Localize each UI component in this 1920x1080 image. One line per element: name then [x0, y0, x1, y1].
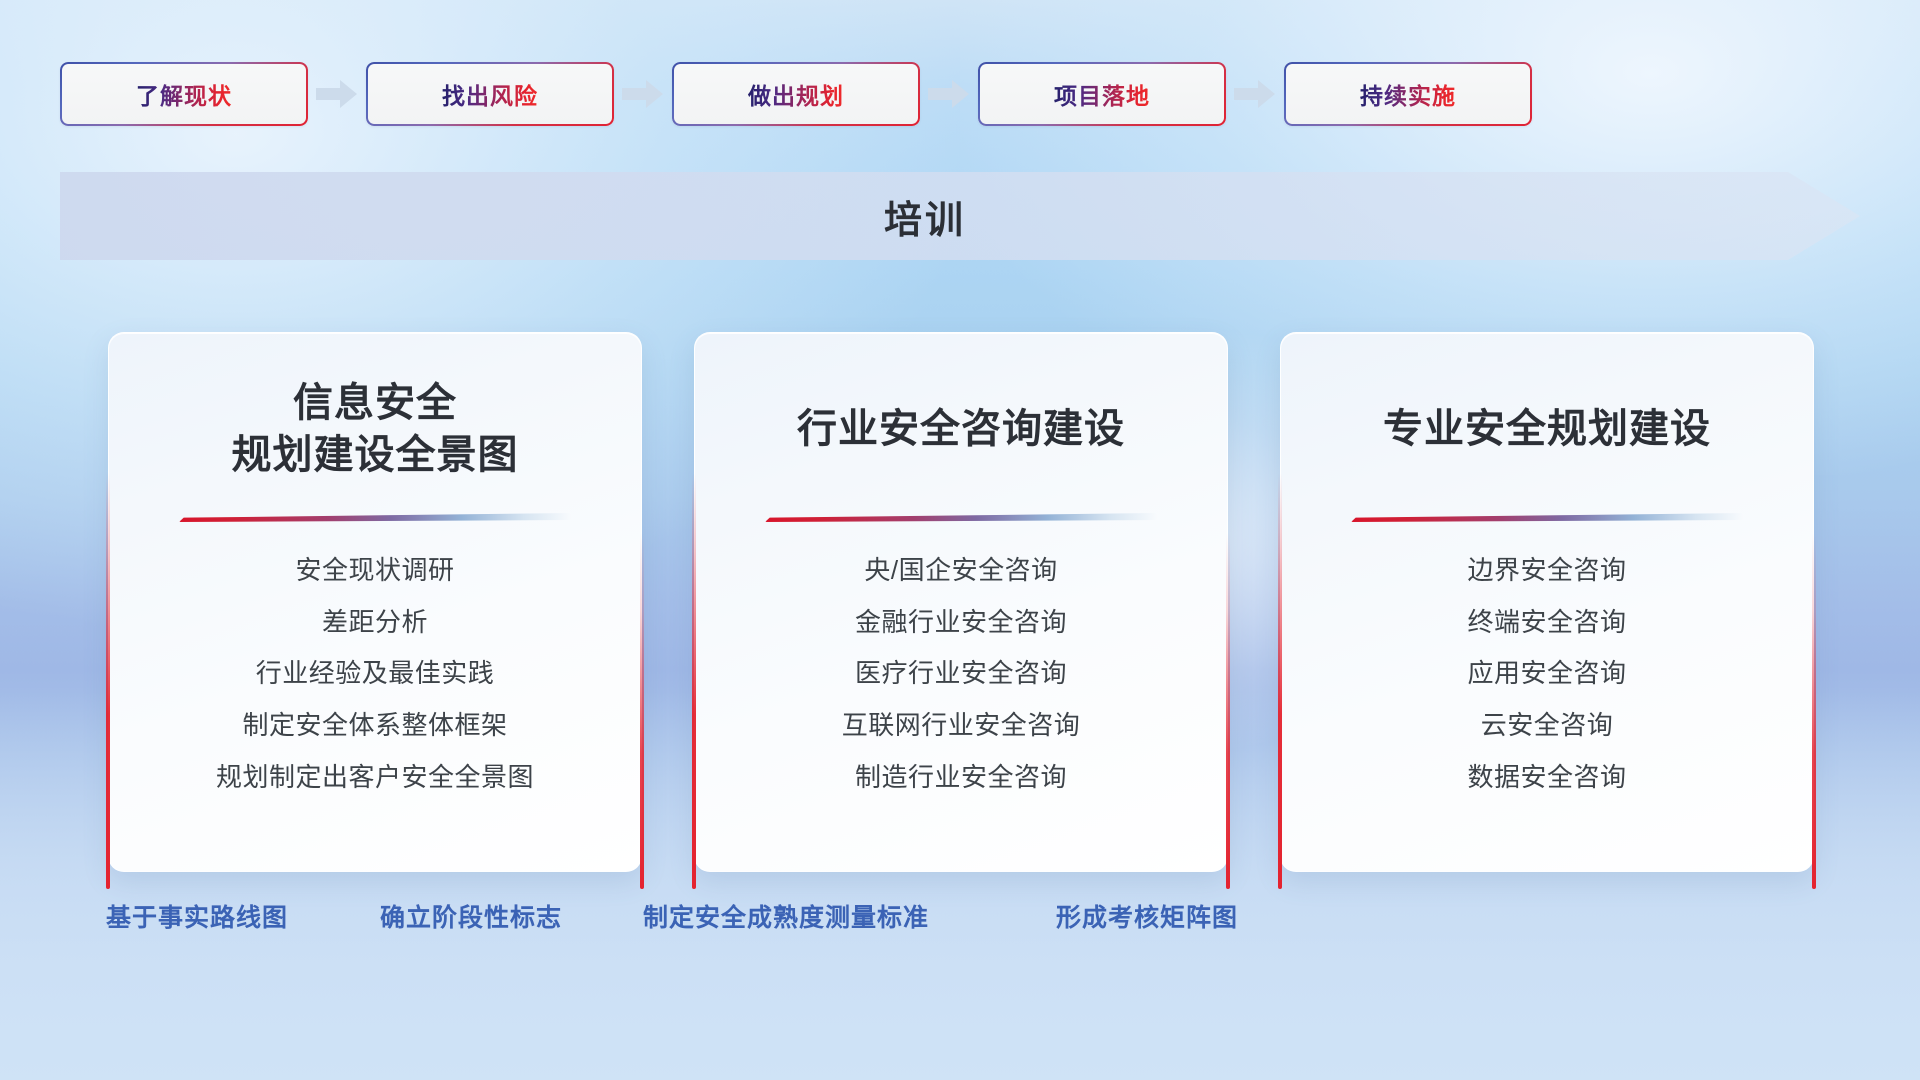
process-step-2[interactable]: 做出规划 — [672, 62, 920, 126]
list-item: 金融行业安全咨询 — [855, 604, 1067, 642]
process-step-label: 做出规划 — [748, 77, 844, 111]
list-item: 数据安全咨询 — [1467, 759, 1626, 797]
footnote-label: 确立阶段性标志 — [380, 898, 562, 934]
footnote-label: 制定安全成熟度测量标准 — [643, 898, 929, 934]
service-card-group: 信息安全 规划建设全景图 安全现状调研 差距分析 行业经验及最佳实践 制定安全体… — [108, 332, 1814, 872]
process-step-label: 项目落地 — [1054, 77, 1150, 111]
list-item: 安全现状调研 — [295, 552, 454, 590]
card-title: 信息安全 规划建设全景图 — [232, 371, 519, 487]
arrow-right-icon — [1226, 62, 1284, 126]
footnote-label: 形成考核矩阵图 — [1056, 898, 1238, 934]
arrow-right-icon — [614, 62, 672, 126]
training-band: 培训 — [60, 172, 1860, 260]
card-item-list: 安全现状调研 差距分析 行业经验及最佳实践 制定安全体系整体框架 规划制定出客户… — [216, 552, 534, 796]
list-item: 央/国企安全咨询 — [864, 552, 1057, 590]
card-item-list: 央/国企安全咨询 金融行业安全咨询 医疗行业安全咨询 互联网行业安全咨询 制造行… — [842, 552, 1081, 796]
process-step-0[interactable]: 了解现状 — [60, 62, 308, 126]
arrow-right-icon — [920, 62, 978, 126]
list-item: 应用安全咨询 — [1467, 655, 1626, 693]
footnote-row: 基于事实路线图 确立阶段性标志 制定安全成熟度测量标准 形成考核矩阵图 — [0, 898, 1920, 944]
card-title-line1: 信息安全 — [293, 381, 457, 425]
card-title: 专业安全规划建设 — [1383, 371, 1711, 487]
service-card[interactable]: 行业安全咨询建设 央/国企安全咨询 金融行业安全咨询 医疗行业安全咨询 互联网行… — [694, 332, 1228, 872]
process-step-flow: 了解现状 找出风险 做出规划 项目落地 持续实施 — [60, 62, 1860, 126]
list-item: 云安全咨询 — [1481, 707, 1614, 745]
list-item: 制定安全体系整体框架 — [242, 707, 507, 745]
service-card[interactable]: 专业安全规划建设 边界安全咨询 终端安全咨询 应用安全咨询 云安全咨询 数据安全… — [1280, 332, 1814, 872]
card-divider — [179, 513, 571, 522]
list-item: 规划制定出客户安全全景图 — [216, 759, 534, 797]
process-step-1[interactable]: 找出风险 — [366, 62, 614, 126]
process-step-label: 找出风险 — [442, 77, 538, 111]
list-item: 差距分析 — [322, 604, 428, 642]
process-step-label: 了解现状 — [136, 77, 232, 111]
process-step-3[interactable]: 项目落地 — [978, 62, 1226, 126]
card-item-list: 边界安全咨询 终端安全咨询 应用安全咨询 云安全咨询 数据安全咨询 — [1467, 552, 1626, 796]
process-step-4[interactable]: 持续实施 — [1284, 62, 1532, 126]
list-item: 互联网行业安全咨询 — [842, 707, 1081, 745]
process-step-label: 持续实施 — [1360, 77, 1456, 111]
card-title-line2: 规划建设全景图 — [232, 433, 519, 477]
arrow-right-icon — [308, 62, 366, 126]
footnote-label: 基于事实路线图 — [106, 898, 288, 934]
card-title: 行业安全咨询建设 — [797, 371, 1125, 487]
service-card[interactable]: 信息安全 规划建设全景图 安全现状调研 差距分析 行业经验及最佳实践 制定安全体… — [108, 332, 642, 872]
list-item: 行业经验及最佳实践 — [256, 655, 495, 693]
list-item: 制造行业安全咨询 — [855, 759, 1067, 797]
list-item: 边界安全咨询 — [1467, 552, 1626, 590]
list-item: 终端安全咨询 — [1467, 604, 1626, 642]
band-title: 培训 — [60, 172, 1860, 260]
card-divider — [765, 513, 1157, 522]
list-item: 医疗行业安全咨询 — [855, 655, 1067, 693]
card-divider — [1351, 513, 1743, 522]
